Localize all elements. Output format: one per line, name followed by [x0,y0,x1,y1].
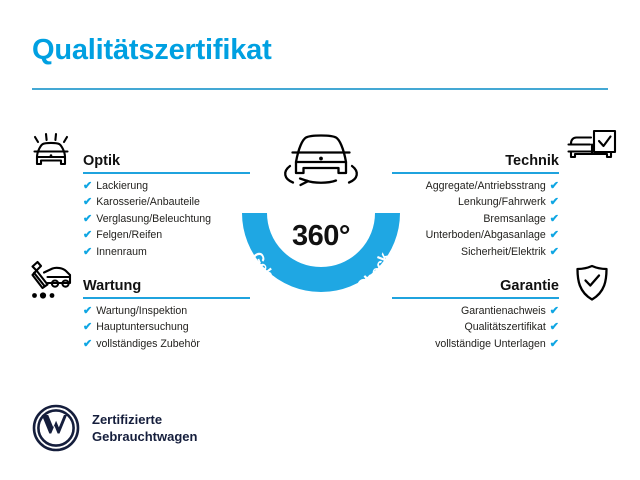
list-item-label: Hauptuntersuchung [96,321,188,333]
footer-line2: Gebrauchtwagen [92,428,197,445]
vw-logo-icon [32,404,80,452]
vw-certified-lockup: Zertifizierte Gebrauchtwagen [32,404,197,452]
list-item-label: Unterboden/Abgasanlage [426,229,546,241]
section-title: Technik [505,153,559,169]
shield-check-icon [572,262,612,309]
section-title: Garantie [500,278,559,294]
page-title: Qualitätszertifikat [32,34,272,67]
section-header: Optik [83,146,250,170]
list-item-label: Karosserie/Anbauteile [96,196,200,208]
section-title: Wartung [83,278,141,294]
badge-value: 360° [226,220,416,253]
list-item: Bremsanlage✔ [392,211,559,227]
section-header: Technik [392,146,559,170]
footer-text: Zertifizierte Gebrauchtwagen [92,411,197,445]
check-icon: ✔ [550,196,559,208]
check-icon: ✔ [550,229,559,241]
section-divider [83,172,250,174]
list-item: vollständige Unterlagen✔ [392,336,559,352]
check-icon: ✔ [83,229,92,241]
list-item: Lenkung/Fahrwerk✔ [392,194,559,210]
checklist-optik: ✔Lackierung ✔Karosserie/Anbauteile ✔Verg… [83,178,250,260]
checklist-garantie: Garantienachweis✔ Qualitätszertifikat✔ v… [392,303,559,352]
list-item-label: vollständige Unterlagen [435,338,546,350]
list-item-label: Bremsanlage [483,213,545,225]
section-title: Optik [83,153,120,169]
check-icon: ✔ [550,305,559,317]
list-item-label: Wartung/Inspektion [96,305,187,317]
check-icon: ✔ [83,213,92,225]
car-service-pen-icon [27,259,75,308]
section-wartung: Wartung ✔Wartung/Inspektion ✔Hauptunters… [83,271,250,352]
360-gebrauchtwagen-check-badge: Gebrauchtwagen-Check 360° [226,128,416,308]
qualitaetszertifikat-page: Qualitätszertifikat Optik ✔Lackierung ✔K… [0,0,640,480]
list-item: ✔Verglasung/Beleuchtung [83,211,250,227]
list-item-label: vollständiges Zubehör [96,338,200,350]
list-item: Garantienachweis✔ [392,303,559,319]
list-item: ✔Karosserie/Anbauteile [83,194,250,210]
list-item: ✔Innenraum [83,244,250,260]
list-item: Qualitätszertifikat✔ [392,319,559,335]
checklist-wartung: ✔Wartung/Inspektion ✔Hauptuntersuchung ✔… [83,303,250,352]
footer-line1: Zertifizierte [92,411,197,428]
section-technik: Technik Aggregate/Antriebsstrang✔ Lenkun… [392,146,559,260]
section-header: Wartung [83,271,250,295]
section-garantie: Garantie Garantienachweis✔ Qualitätszert… [392,271,559,352]
check-icon: ✔ [550,180,559,192]
car-checkbox-icon [566,128,618,177]
section-divider [392,172,559,174]
check-icon: ✔ [83,246,92,258]
check-icon: ✔ [550,321,559,333]
check-icon: ✔ [550,338,559,350]
list-item: Sicherheit/Elektrik✔ [392,244,559,260]
car-shine-icon [27,131,75,176]
check-icon: ✔ [83,180,92,192]
list-item: ✔Felgen/Reifen [83,227,250,243]
list-item: Unterboden/Abgasanlage✔ [392,227,559,243]
list-item: ✔Wartung/Inspektion [83,303,250,319]
checklist-technik: Aggregate/Antriebsstrang✔ Lenkung/Fahrwe… [392,178,559,260]
section-divider [392,297,559,299]
check-icon: ✔ [550,213,559,225]
section-header: Garantie [392,271,559,295]
section-optik: Optik ✔Lackierung ✔Karosserie/Anbauteile… [83,146,250,260]
list-item-label: Lackierung [96,180,148,192]
list-item-label: Lenkung/Fahrwerk [458,196,546,208]
list-item-label: Verglasung/Beleuchtung [96,213,211,225]
check-icon: ✔ [83,338,92,350]
list-item-label: Qualitätszertifikat [465,321,546,333]
check-icon: ✔ [83,321,92,333]
list-item-label: Aggregate/Antriebsstrang [426,180,546,192]
list-item-label: Felgen/Reifen [96,229,162,241]
list-item-label: Sicherheit/Elektrik [461,246,546,258]
list-item-label: Innenraum [96,246,147,258]
check-icon: ✔ [550,246,559,258]
list-item: Aggregate/Antriebsstrang✔ [392,178,559,194]
header-divider [32,88,608,90]
check-icon: ✔ [83,196,92,208]
list-item: ✔Lackierung [83,178,250,194]
check-icon: ✔ [83,305,92,317]
list-item-label: Garantienachweis [461,305,546,317]
section-divider [83,297,250,299]
car-rotation-icon [285,135,357,185]
list-item: ✔Hauptuntersuchung [83,319,250,335]
list-item: ✔vollständiges Zubehör [83,336,250,352]
